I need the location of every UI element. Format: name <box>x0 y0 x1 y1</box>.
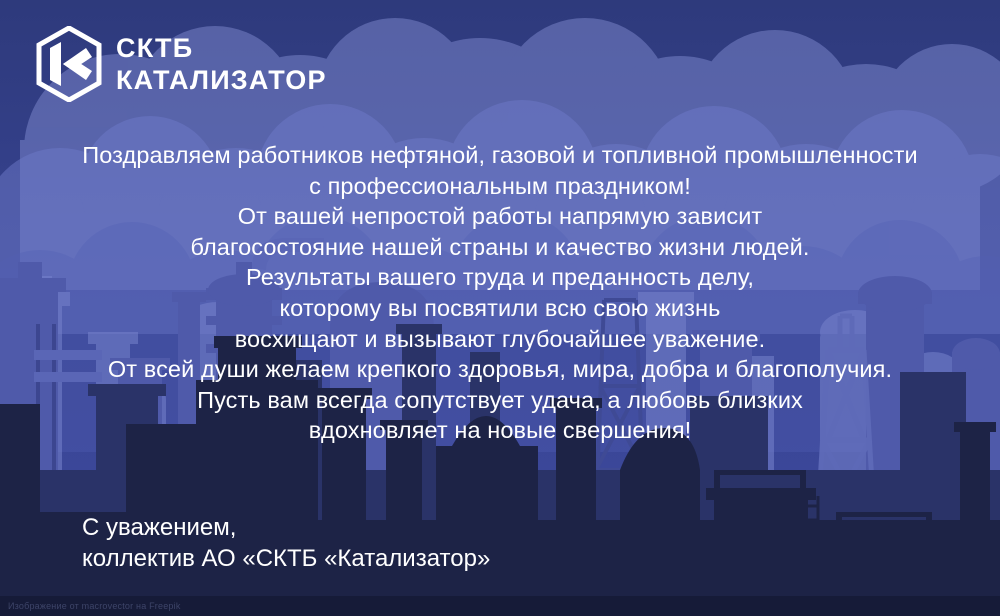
greeting-line-10: вдохновляет на новые свершения! <box>18 415 982 446</box>
signature-line-1: С уважением, <box>82 512 490 543</box>
greeting-line-5: Результаты вашего труда и преданность де… <box>18 262 982 293</box>
image-attribution: Изображение от macrovector на Freepik <box>8 601 181 611</box>
sktb-hexagon-mark-icon <box>36 26 102 102</box>
greeting-card: СКТБ КАТАЛИЗАТОР Поздравляем работников … <box>0 0 1000 616</box>
logo-wordmark: СКТБ КАТАЛИЗАТОР <box>116 35 327 94</box>
greeting-line-8: От всей души желаем крепкого здоровья, м… <box>18 354 982 385</box>
greeting-line-9: Пусть вам всегда сопутствует удача, а лю… <box>18 385 982 416</box>
greeting-text-block: Поздравляем работников нефтяной, газовой… <box>0 140 1000 446</box>
greeting-line-7: восхищают и вызывают глубочайшее уважени… <box>18 324 982 355</box>
greeting-line-2: с профессиональным праздником! <box>18 171 982 202</box>
greeting-line-3: От вашей непростой работы напрямую завис… <box>18 201 982 232</box>
greeting-line-4: благосостояние нашей страны и качество ж… <box>18 232 982 263</box>
greeting-line-6: которому вы посвятили всю свою жизнь <box>18 293 982 324</box>
logo-line-sktb: СКТБ <box>116 35 327 62</box>
signature-block: С уважением, коллектив АО «СКТБ «Катализ… <box>82 512 490 574</box>
logo-line-katalizator: КАТАЛИЗАТОР <box>116 67 327 94</box>
signature-line-2: коллектив АО «СКТБ «Катализатор» <box>82 543 490 574</box>
greeting-line-1: Поздравляем работников нефтяной, газовой… <box>18 140 982 171</box>
logo[interactable]: СКТБ КАТАЛИЗАТОР <box>36 26 327 102</box>
